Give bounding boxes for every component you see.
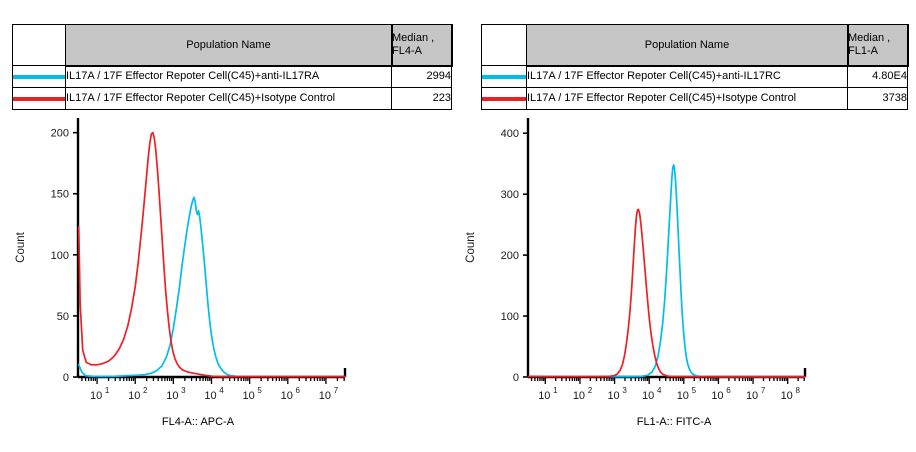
svg-text:1: 1 bbox=[553, 386, 558, 395]
legend-swatch-cell bbox=[13, 88, 66, 110]
histogram-svg-left: 050100150200Count101102103104105106107 bbox=[0, 108, 460, 428]
svg-text:10: 10 bbox=[607, 390, 619, 402]
svg-text:4: 4 bbox=[219, 386, 224, 395]
legend-header-row: Population Name Median , FL4-A bbox=[13, 25, 452, 66]
legend-swatch-cell bbox=[482, 88, 527, 110]
svg-text:10: 10 bbox=[573, 390, 585, 402]
legend-swatch-header bbox=[482, 25, 527, 66]
legend-row[interactable]: IL17A / 17F Effector Repoter Cell(C45)+a… bbox=[482, 66, 908, 88]
svg-text:Count: Count bbox=[465, 231, 477, 262]
svg-text:6: 6 bbox=[296, 386, 301, 395]
svg-text:3: 3 bbox=[181, 386, 186, 395]
histogram-plot-right: 0100200300400Count1011021031041051061071… bbox=[460, 108, 916, 452]
svg-text:5: 5 bbox=[692, 386, 697, 395]
legend-population-header: Population Name bbox=[66, 25, 392, 66]
legend-median-header: Median , FL4-A bbox=[392, 25, 452, 66]
histogram-plot-left: 050100150200Count101102103104105106107 F… bbox=[0, 108, 460, 452]
svg-text:10: 10 bbox=[90, 390, 102, 402]
svg-text:10: 10 bbox=[166, 390, 178, 402]
svg-text:0: 0 bbox=[513, 372, 519, 384]
legend-table-right: Population Name Median , FL1-A IL17A / 1… bbox=[481, 24, 908, 110]
svg-text:150: 150 bbox=[51, 189, 69, 201]
svg-text:10: 10 bbox=[281, 390, 293, 402]
svg-text:200: 200 bbox=[501, 250, 519, 262]
svg-text:10: 10 bbox=[243, 390, 255, 402]
svg-text:100: 100 bbox=[51, 250, 69, 262]
series-color-swatch-cyan bbox=[13, 75, 65, 79]
legend-population-header: Population Name bbox=[527, 25, 848, 66]
svg-text:10: 10 bbox=[746, 390, 758, 402]
svg-text:2: 2 bbox=[143, 386, 148, 395]
legend-row[interactable]: IL17A / 17F Effector Repoter Cell(C45)+a… bbox=[13, 66, 452, 88]
svg-text:3: 3 bbox=[622, 386, 627, 395]
svg-text:5: 5 bbox=[257, 386, 262, 395]
x-axis-title-left: FL4-A:: APC-A bbox=[0, 416, 428, 428]
legend-median-value: 3738 bbox=[848, 88, 908, 110]
svg-text:4: 4 bbox=[657, 386, 662, 395]
svg-text:7: 7 bbox=[761, 386, 766, 395]
svg-text:10: 10 bbox=[128, 390, 140, 402]
svg-text:10: 10 bbox=[319, 390, 331, 402]
svg-text:7: 7 bbox=[334, 386, 339, 395]
legend-swatch-cell bbox=[13, 66, 66, 88]
legend-swatch-cell bbox=[482, 66, 527, 88]
legend-median-value: 223 bbox=[392, 88, 452, 110]
svg-text:10: 10 bbox=[677, 390, 689, 402]
series-color-swatch-red bbox=[482, 97, 526, 101]
svg-text:10: 10 bbox=[538, 390, 550, 402]
svg-text:50: 50 bbox=[57, 311, 69, 323]
svg-text:10: 10 bbox=[711, 390, 723, 402]
svg-text:2: 2 bbox=[588, 386, 593, 395]
series-color-swatch-red bbox=[13, 97, 65, 101]
svg-text:200: 200 bbox=[51, 128, 69, 140]
legend-row[interactable]: IL17A / 17F Effector Repoter Cell(C45)+I… bbox=[13, 88, 452, 110]
svg-text:8: 8 bbox=[795, 386, 800, 395]
legend-table-left: Population Name Median , FL4-A IL17A / 1… bbox=[12, 24, 452, 110]
legend-population-name: IL17A / 17F Effector Repoter Cell(C45)+I… bbox=[527, 88, 848, 110]
svg-text:Count: Count bbox=[15, 231, 27, 262]
svg-text:400: 400 bbox=[501, 128, 519, 140]
histogram-svg-right: 0100200300400Count1011021031041051061071… bbox=[460, 108, 916, 428]
svg-text:300: 300 bbox=[501, 189, 519, 201]
legend-population-name: IL17A / 17F Effector Repoter Cell(C45)+I… bbox=[66, 88, 392, 110]
legend-median-value: 2994 bbox=[392, 66, 452, 88]
legend-swatch-header bbox=[13, 25, 66, 66]
panel-right: Population Name Median , FL1-A IL17A / 1… bbox=[481, 24, 908, 110]
svg-text:10: 10 bbox=[781, 390, 793, 402]
legend-median-value: 4.80E4 bbox=[848, 66, 908, 88]
legend-population-name: IL17A / 17F Effector Repoter Cell(C45)+a… bbox=[527, 66, 848, 88]
svg-text:0: 0 bbox=[63, 372, 69, 384]
panel-left: Population Name Median , FL4-A IL17A / 1… bbox=[12, 24, 452, 110]
series-color-swatch-cyan bbox=[482, 75, 526, 79]
legend-population-name: IL17A / 17F Effector Repoter Cell(C45)+a… bbox=[66, 66, 392, 88]
svg-text:1: 1 bbox=[105, 386, 110, 395]
legend-median-header: Median , FL1-A bbox=[848, 25, 908, 66]
svg-text:100: 100 bbox=[501, 311, 519, 323]
svg-text:6: 6 bbox=[726, 386, 731, 395]
legend-header-row: Population Name Median , FL1-A bbox=[482, 25, 908, 66]
x-axis-title-right: FL1-A:: FITC-A bbox=[446, 416, 902, 428]
legend-row[interactable]: IL17A / 17F Effector Repoter Cell(C45)+I… bbox=[482, 88, 908, 110]
svg-text:10: 10 bbox=[642, 390, 654, 402]
svg-text:10: 10 bbox=[204, 390, 216, 402]
